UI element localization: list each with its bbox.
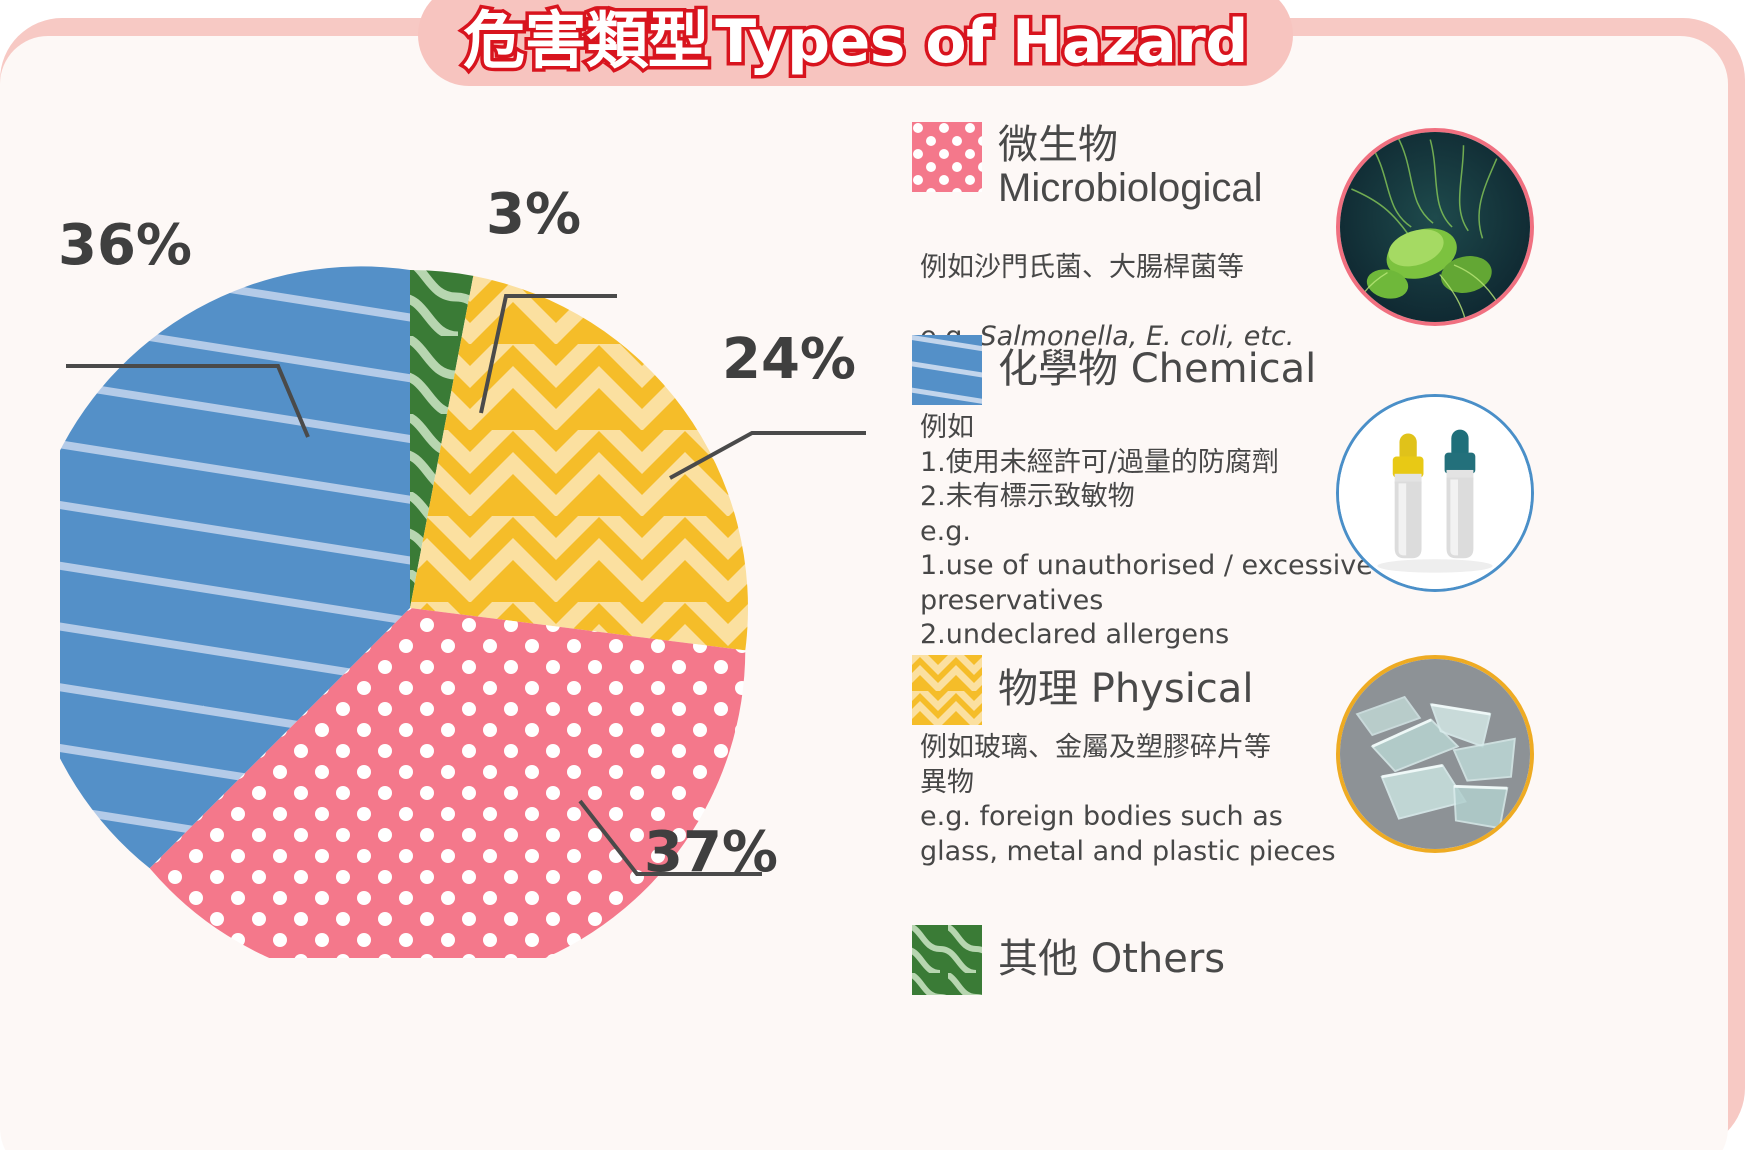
page-title: 危害類型Types of Hazard xyxy=(463,0,1248,80)
broken-glass-photo xyxy=(1336,655,1534,853)
legend-others-title: 其他 Others xyxy=(998,927,1225,991)
legend-microbiological-title-en: Microbiological xyxy=(998,166,1263,210)
infographic-root: 危害類型Types of Hazard xyxy=(0,0,1761,1150)
swatch-others-icon xyxy=(912,925,982,995)
swatch-physical-icon xyxy=(912,655,982,725)
page-title-en: Types of Hazard xyxy=(715,7,1248,77)
pie-label-others-pct: 3% xyxy=(486,182,581,247)
title-banner: 危害類型Types of Hazard xyxy=(418,0,1293,86)
pie-label-microbiological-pct: 37% xyxy=(644,820,778,885)
bacteria-photo xyxy=(1336,128,1534,326)
legend-item-physical: 物理 Physical 例如玻璃、金屬及塑膠碎片等 異物 e.g. foreig… xyxy=(912,655,1382,869)
page-title-cjk: 危害類型 xyxy=(463,4,709,77)
legend-microbiological-title-cjk: 微生物 xyxy=(998,124,1263,166)
legend-chemical-title: 化學物 Chemical xyxy=(998,337,1316,401)
legend-item-chemical: 化學物 Chemical 例如 1.使用未經許可/過量的防腐劑 2.未有標示致敏… xyxy=(912,335,1382,653)
swatch-chemical-icon xyxy=(912,335,982,405)
pie-label-chemical-pct: 36% xyxy=(58,213,192,278)
dropper-bottles-photo xyxy=(1336,394,1534,592)
legend-physical-title: 物理 Physical xyxy=(998,657,1253,721)
pie-label-physical-pct: 24% xyxy=(722,327,856,392)
legend-physical-desc: 例如玻璃、金屬及塑膠碎片等 異物 e.g. foreign bodies suc… xyxy=(920,731,1382,869)
legend-item-others: 其他 Others xyxy=(912,925,1382,995)
swatch-microbiological-icon xyxy=(912,122,982,192)
legend-chemical-desc: 例如 1.使用未經許可/過量的防腐劑 2.未有標示致敏物 e.g. 1.use … xyxy=(920,411,1382,653)
legend-microbiological-desc-cjk: 例如沙門氏菌、大腸桿菌等 xyxy=(920,251,1382,286)
